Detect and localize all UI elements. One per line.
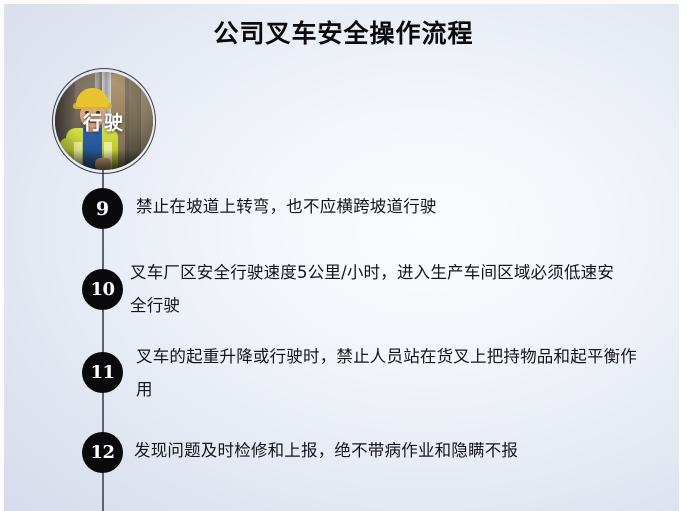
- step-text: 发现问题及时检修和上报，绝不带病作业和隐瞒不报: [134, 434, 654, 467]
- step-number-badge: 10: [82, 269, 123, 310]
- step-text: 叉车的起重升降或行驶时，禁止人员站在货叉上把持物品和起平衡作用: [136, 340, 648, 406]
- slide-frame-left-edge: [0, 0, 4, 511]
- hero-photo-ring: [52, 68, 156, 174]
- slide-canvas: 公司叉车安全操作流程 行驶: [0, 0, 687, 511]
- step-text: 禁止在坡道上转弯，也不应横跨坡道行驶: [136, 190, 656, 223]
- step-number-badge: 11: [82, 352, 123, 393]
- step-number-badge: 12: [82, 432, 123, 473]
- slide-frame-right-edge: [679, 0, 687, 511]
- hero-photo-circle: 行驶: [55, 72, 153, 170]
- step-number-badge: 9: [82, 188, 123, 229]
- slide-frame-top-edge: [0, 0, 687, 4]
- slide-title: 公司叉车安全操作流程: [0, 17, 687, 51]
- step-text: 叉车厂区安全行驶速度5公里/小时，进入生产车间区域必须低速安全行驶: [130, 256, 626, 322]
